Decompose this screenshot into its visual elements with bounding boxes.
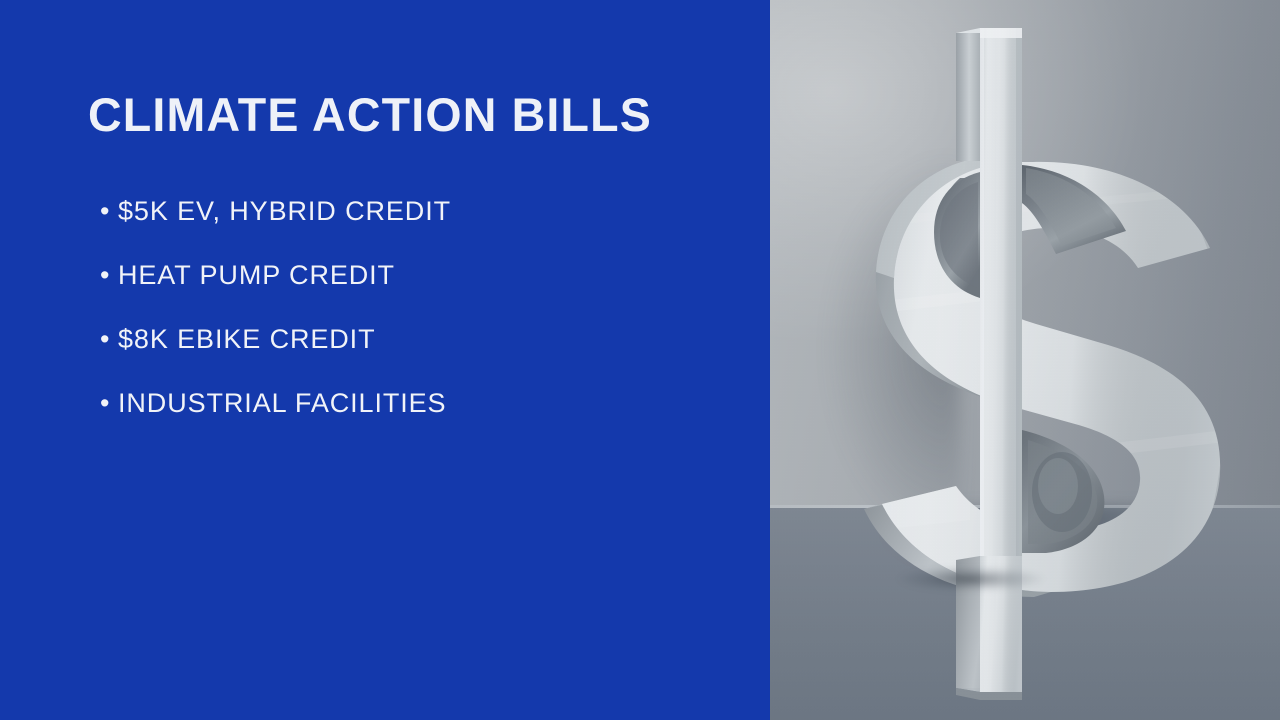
- list-item-label: $8K EBIKE CREDIT: [118, 326, 375, 353]
- list-item: • $5K EV, HYBRID CREDIT: [100, 198, 720, 262]
- list-item-label: HEAT PUMP CREDIT: [118, 262, 395, 289]
- bullet-dot-icon: •: [100, 262, 118, 289]
- dollar-sign-icon: [770, 0, 1280, 720]
- list-item: • INDUSTRIAL FACILITIES: [100, 390, 720, 454]
- news-lower-third-slide: CLIMATE ACTION BILLS • $5K EV, HYBRID CR…: [0, 0, 1280, 720]
- list-item-label: $5K EV, HYBRID CREDIT: [118, 198, 451, 225]
- blue-content-panel: CLIMATE ACTION BILLS • $5K EV, HYBRID CR…: [0, 0, 770, 720]
- bullet-list: • $5K EV, HYBRID CREDIT • HEAT PUMP CRED…: [100, 198, 720, 454]
- dollar-sign-sculpture: [770, 0, 1280, 720]
- page-title: CLIMATE ACTION BILLS: [88, 88, 652, 142]
- bullet-dot-icon: •: [100, 390, 118, 417]
- foot-contact-shadow: [896, 566, 1046, 592]
- photo-panel: [770, 0, 1280, 720]
- list-item: • HEAT PUMP CREDIT: [100, 262, 720, 326]
- list-item: • $8K EBIKE CREDIT: [100, 326, 720, 390]
- bullet-dot-icon: •: [100, 326, 118, 353]
- list-item-label: INDUSTRIAL FACILITIES: [118, 390, 446, 417]
- bullet-dot-icon: •: [100, 198, 118, 225]
